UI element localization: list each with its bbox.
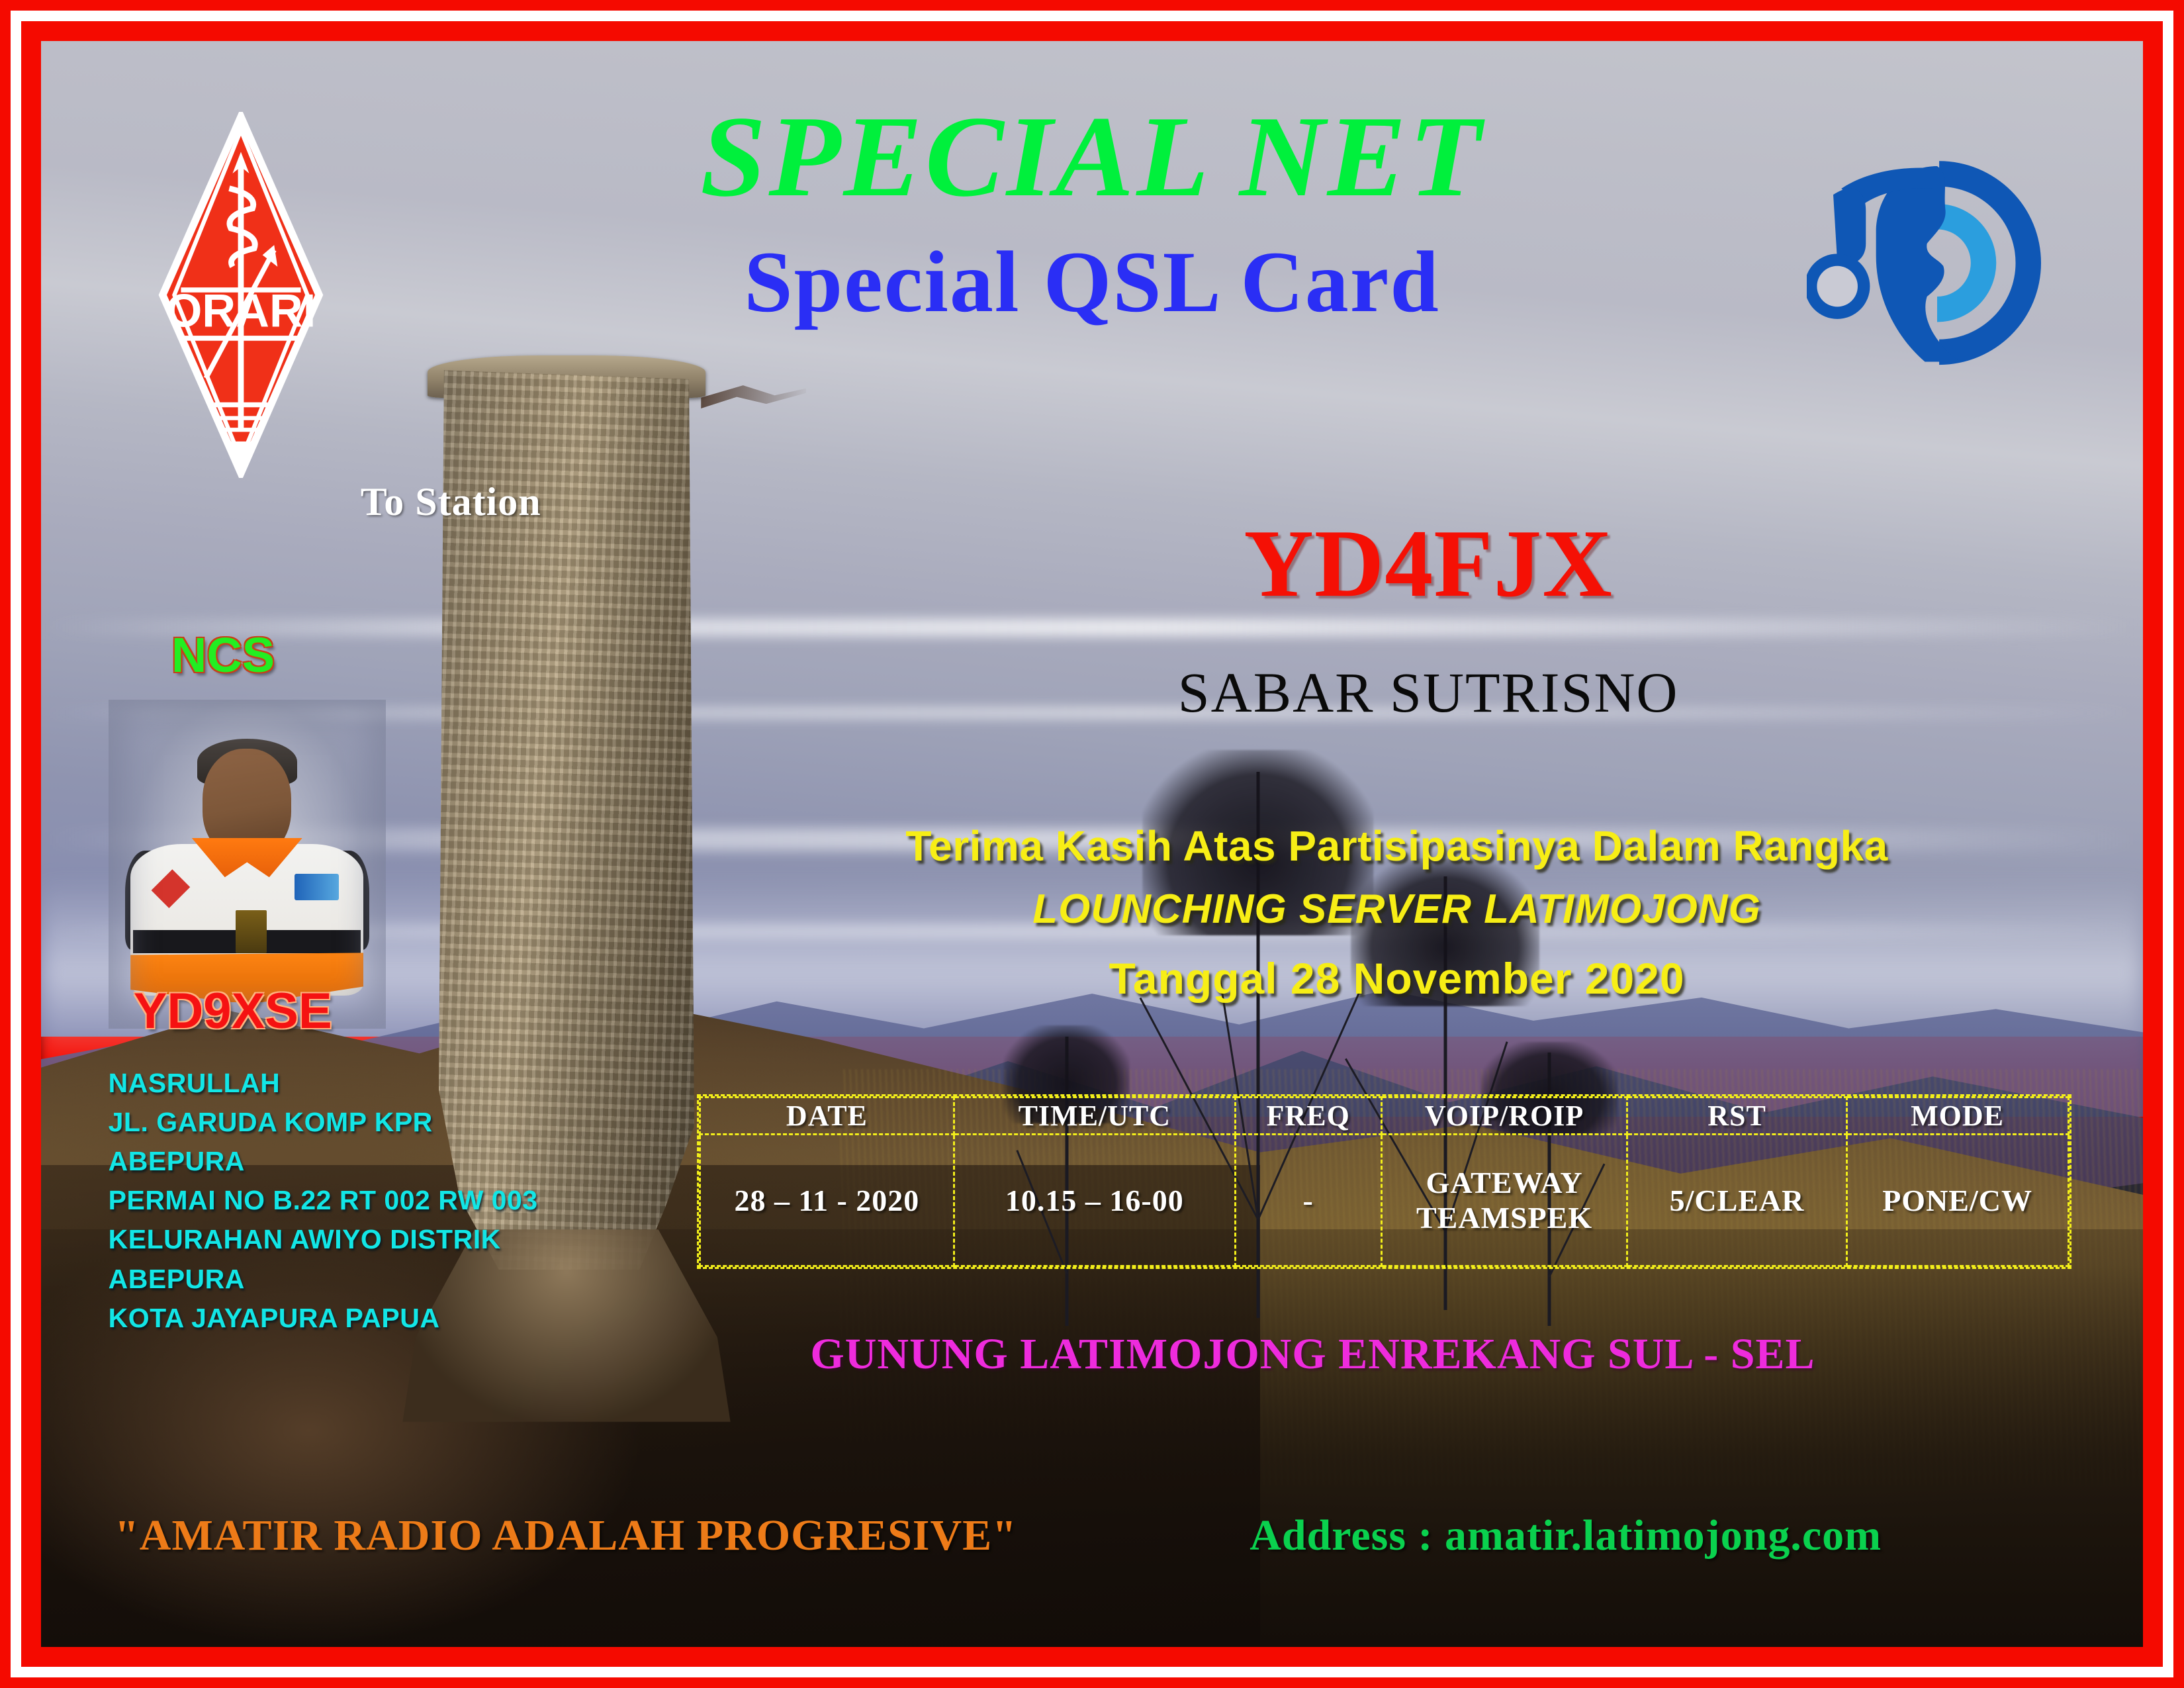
table-row: 28 – 11 - 2020 10.15 – 16-00 - GATEWAY T…: [700, 1135, 2068, 1266]
column-header-rst: RST: [1627, 1098, 1846, 1135]
mailing-address: NASRULLAH JL. GARUDA KOMP KPR ABEPURA PE…: [109, 1064, 655, 1337]
ncs-callsign: YD9XSE: [134, 982, 332, 1040]
cell-freq: -: [1235, 1135, 1381, 1266]
address-line: ABEPURA: [109, 1260, 655, 1299]
address-line: KOTA JAYAPURA PAPUA: [109, 1299, 655, 1338]
column-header-time: TIME/UTC: [954, 1098, 1235, 1135]
ncs-label: NCS: [171, 627, 275, 683]
column-header-freq: FREQ: [1235, 1098, 1381, 1135]
table-header-row: DATE TIME/UTC FREQ VOIP/ROIP RST MODE: [700, 1098, 2068, 1135]
ncs-operator-photo: [109, 700, 386, 1029]
address-line: KELURAHAN AWIYO DISTRIK: [109, 1220, 655, 1259]
slogan-text: "AMATIR RADIO ADALAH PROGRESIVE": [114, 1511, 1017, 1561]
cell-time: 10.15 – 16-00: [954, 1135, 1235, 1266]
web-address: Address : amatir.latimojong.com: [1250, 1511, 1882, 1561]
column-header-mode: MODE: [1846, 1098, 2068, 1135]
cell-rst: 5/CLEAR: [1627, 1135, 1846, 1266]
qso-log-table: DATE TIME/UTC FREQ VOIP/ROIP RST MODE 28…: [697, 1094, 2071, 1268]
column-header-voip: VOIP/ROIP: [1381, 1098, 1627, 1135]
cell-voip: GATEWAY TEAMSPEK: [1381, 1135, 1627, 1266]
address-line: JL. GARUDA KOMP KPR: [109, 1103, 655, 1142]
content-layer: ORARI SPECIAL NE: [41, 41, 2143, 1647]
address-line: PERMAI NO B.22 RT 002 RW 003: [109, 1181, 655, 1220]
address-line: NASRULLAH: [109, 1064, 655, 1103]
place-caption: GUNUNG LATIMOJONG ENREKANG SUL - SEL: [609, 1329, 2017, 1380]
operator-name: SABAR SUTRISNO: [840, 664, 2017, 721]
cell-voip-line-2: TEAMSPEK: [1383, 1200, 1626, 1235]
cell-date: 28 – 11 - 2020: [700, 1135, 954, 1266]
page-subtitle: Special QSL Card: [41, 238, 2143, 326]
thanks-line-2: LOUNCHING SERVER LATIMOJONG: [735, 886, 2059, 933]
qsl-card-outer-frame: ORARI SPECIAL NE: [0, 0, 2184, 1688]
thanks-line-3: Tanggal 28 November 2020: [735, 953, 2059, 1004]
to-station-label: To Station: [361, 479, 541, 525]
card-photo-area: ORARI SPECIAL NE: [41, 41, 2143, 1647]
thanks-line-1: Terima Kasih Atas Partisipasinya Dalam R…: [735, 821, 2059, 870]
cell-mode: PONE/CW: [1846, 1135, 2068, 1266]
page-title: SPECIAL NET: [41, 99, 2143, 214]
cell-voip-line-1: GATEWAY: [1383, 1165, 1626, 1200]
station-callsign: YD4FJX: [840, 515, 2017, 612]
column-header-date: DATE: [700, 1098, 954, 1135]
address-line: ABEPURA: [109, 1142, 655, 1181]
